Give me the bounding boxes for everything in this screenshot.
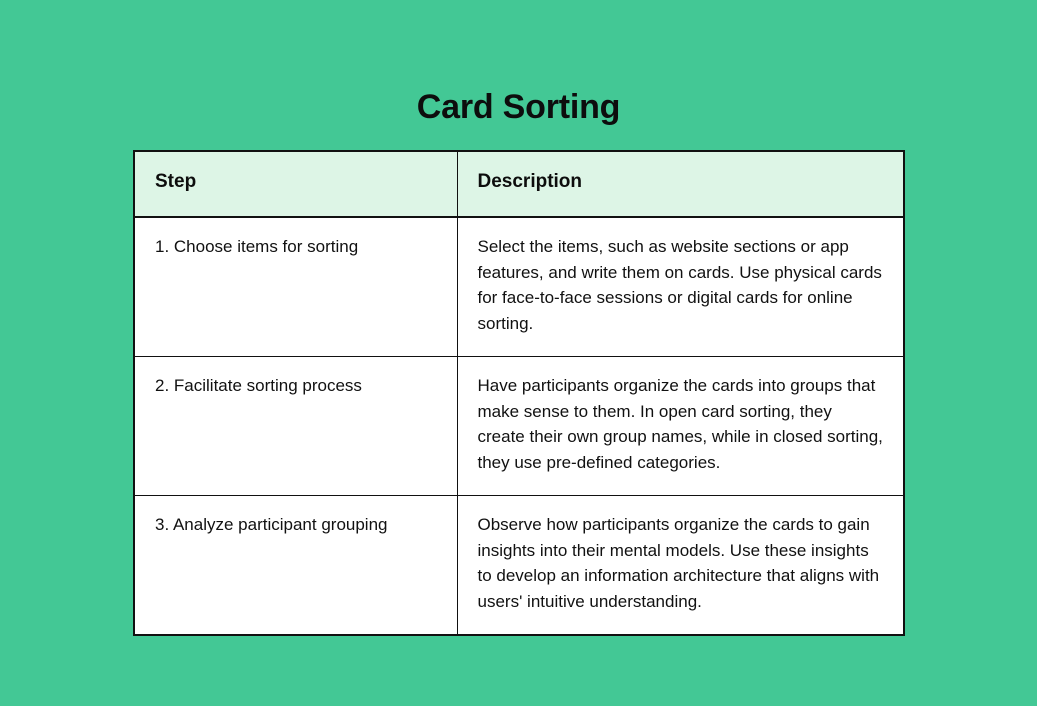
table-header-row: Step Description <box>134 151 904 217</box>
cell-description: Have participants organize the cards int… <box>457 357 904 496</box>
column-header-description: Description <box>457 151 904 217</box>
table-row: 2. Facilitate sorting process Have parti… <box>134 357 904 496</box>
column-header-step: Step <box>134 151 457 217</box>
cell-description: Select the items, such as website sectio… <box>457 217 904 357</box>
table-row: 3. Analyze participant grouping Observe … <box>134 496 904 636</box>
cell-step: 2. Facilitate sorting process <box>134 357 457 496</box>
table-row: 1. Choose items for sorting Select the i… <box>134 217 904 357</box>
card-sorting-table-container: Step Description 1. Choose items for sor… <box>133 150 903 636</box>
cell-step: 3. Analyze participant grouping <box>134 496 457 636</box>
cell-description: Observe how participants organize the ca… <box>457 496 904 636</box>
card-sorting-table: Step Description 1. Choose items for sor… <box>133 150 905 636</box>
page-title: Card Sorting <box>0 85 1037 129</box>
cell-step: 1. Choose items for sorting <box>134 217 457 357</box>
table-body: 1. Choose items for sorting Select the i… <box>134 217 904 635</box>
page-root: Card Sorting Step Description 1. Choose … <box>0 0 1037 706</box>
table-header: Step Description <box>134 151 904 217</box>
